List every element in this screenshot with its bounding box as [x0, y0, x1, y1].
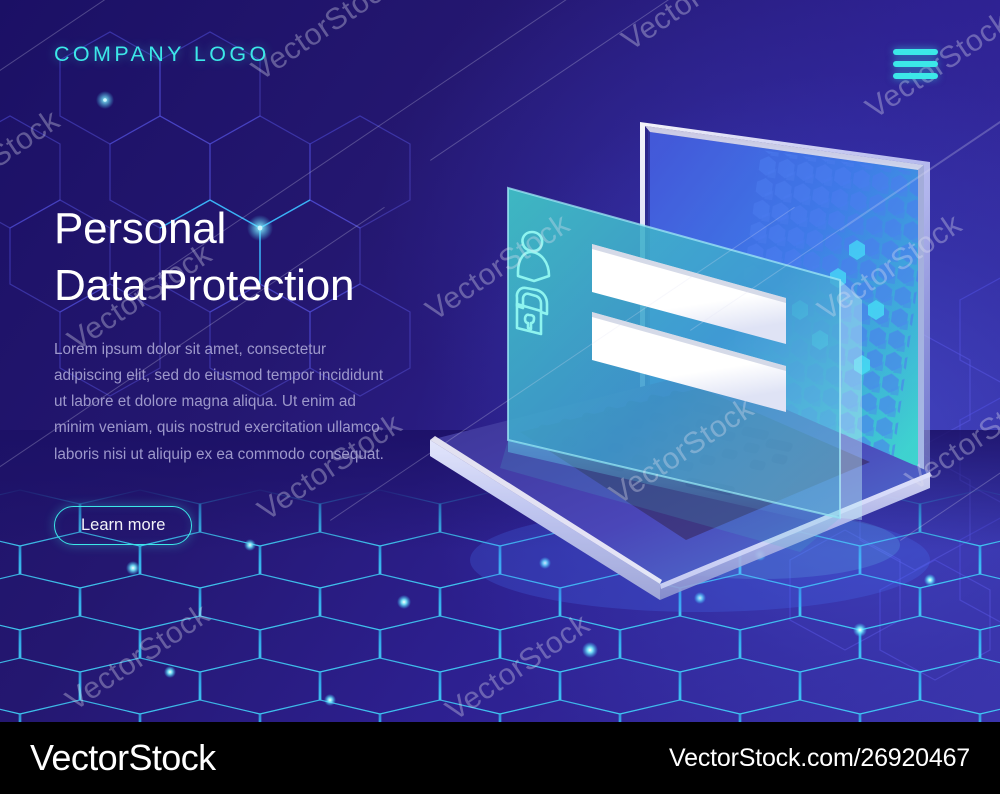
footer-brand: VectorStock [30, 737, 216, 779]
hamburger-menu-icon[interactable] [893, 49, 938, 79]
footer-bar: VectorStock VectorStock.com/26920467 [0, 722, 1000, 794]
hero-section: VectorStock VectorStock VectorStock Vect… [0, 0, 1000, 722]
hamburger-bar-2 [893, 61, 938, 67]
hamburger-bar-1 [893, 49, 938, 55]
learn-more-button[interactable]: Learn more [54, 506, 192, 545]
poster-stage: VectorStock VectorStock VectorStock Vect… [0, 0, 1000, 794]
hero-description: Lorem ipsum dolor sit amet, consectetur … [54, 337, 384, 468]
hero-copy: COMPANY LOGO Personal Data Protection Lo… [54, 42, 454, 545]
page-title: Personal Data Protection [54, 201, 454, 315]
footer-url: VectorStock.com/26920467 [669, 744, 970, 773]
company-logo[interactable]: COMPANY LOGO [54, 42, 454, 67]
hamburger-bar-3 [893, 73, 938, 79]
headline-line-1: Personal [54, 204, 226, 253]
headline-line-2: Data Protection [54, 258, 454, 315]
